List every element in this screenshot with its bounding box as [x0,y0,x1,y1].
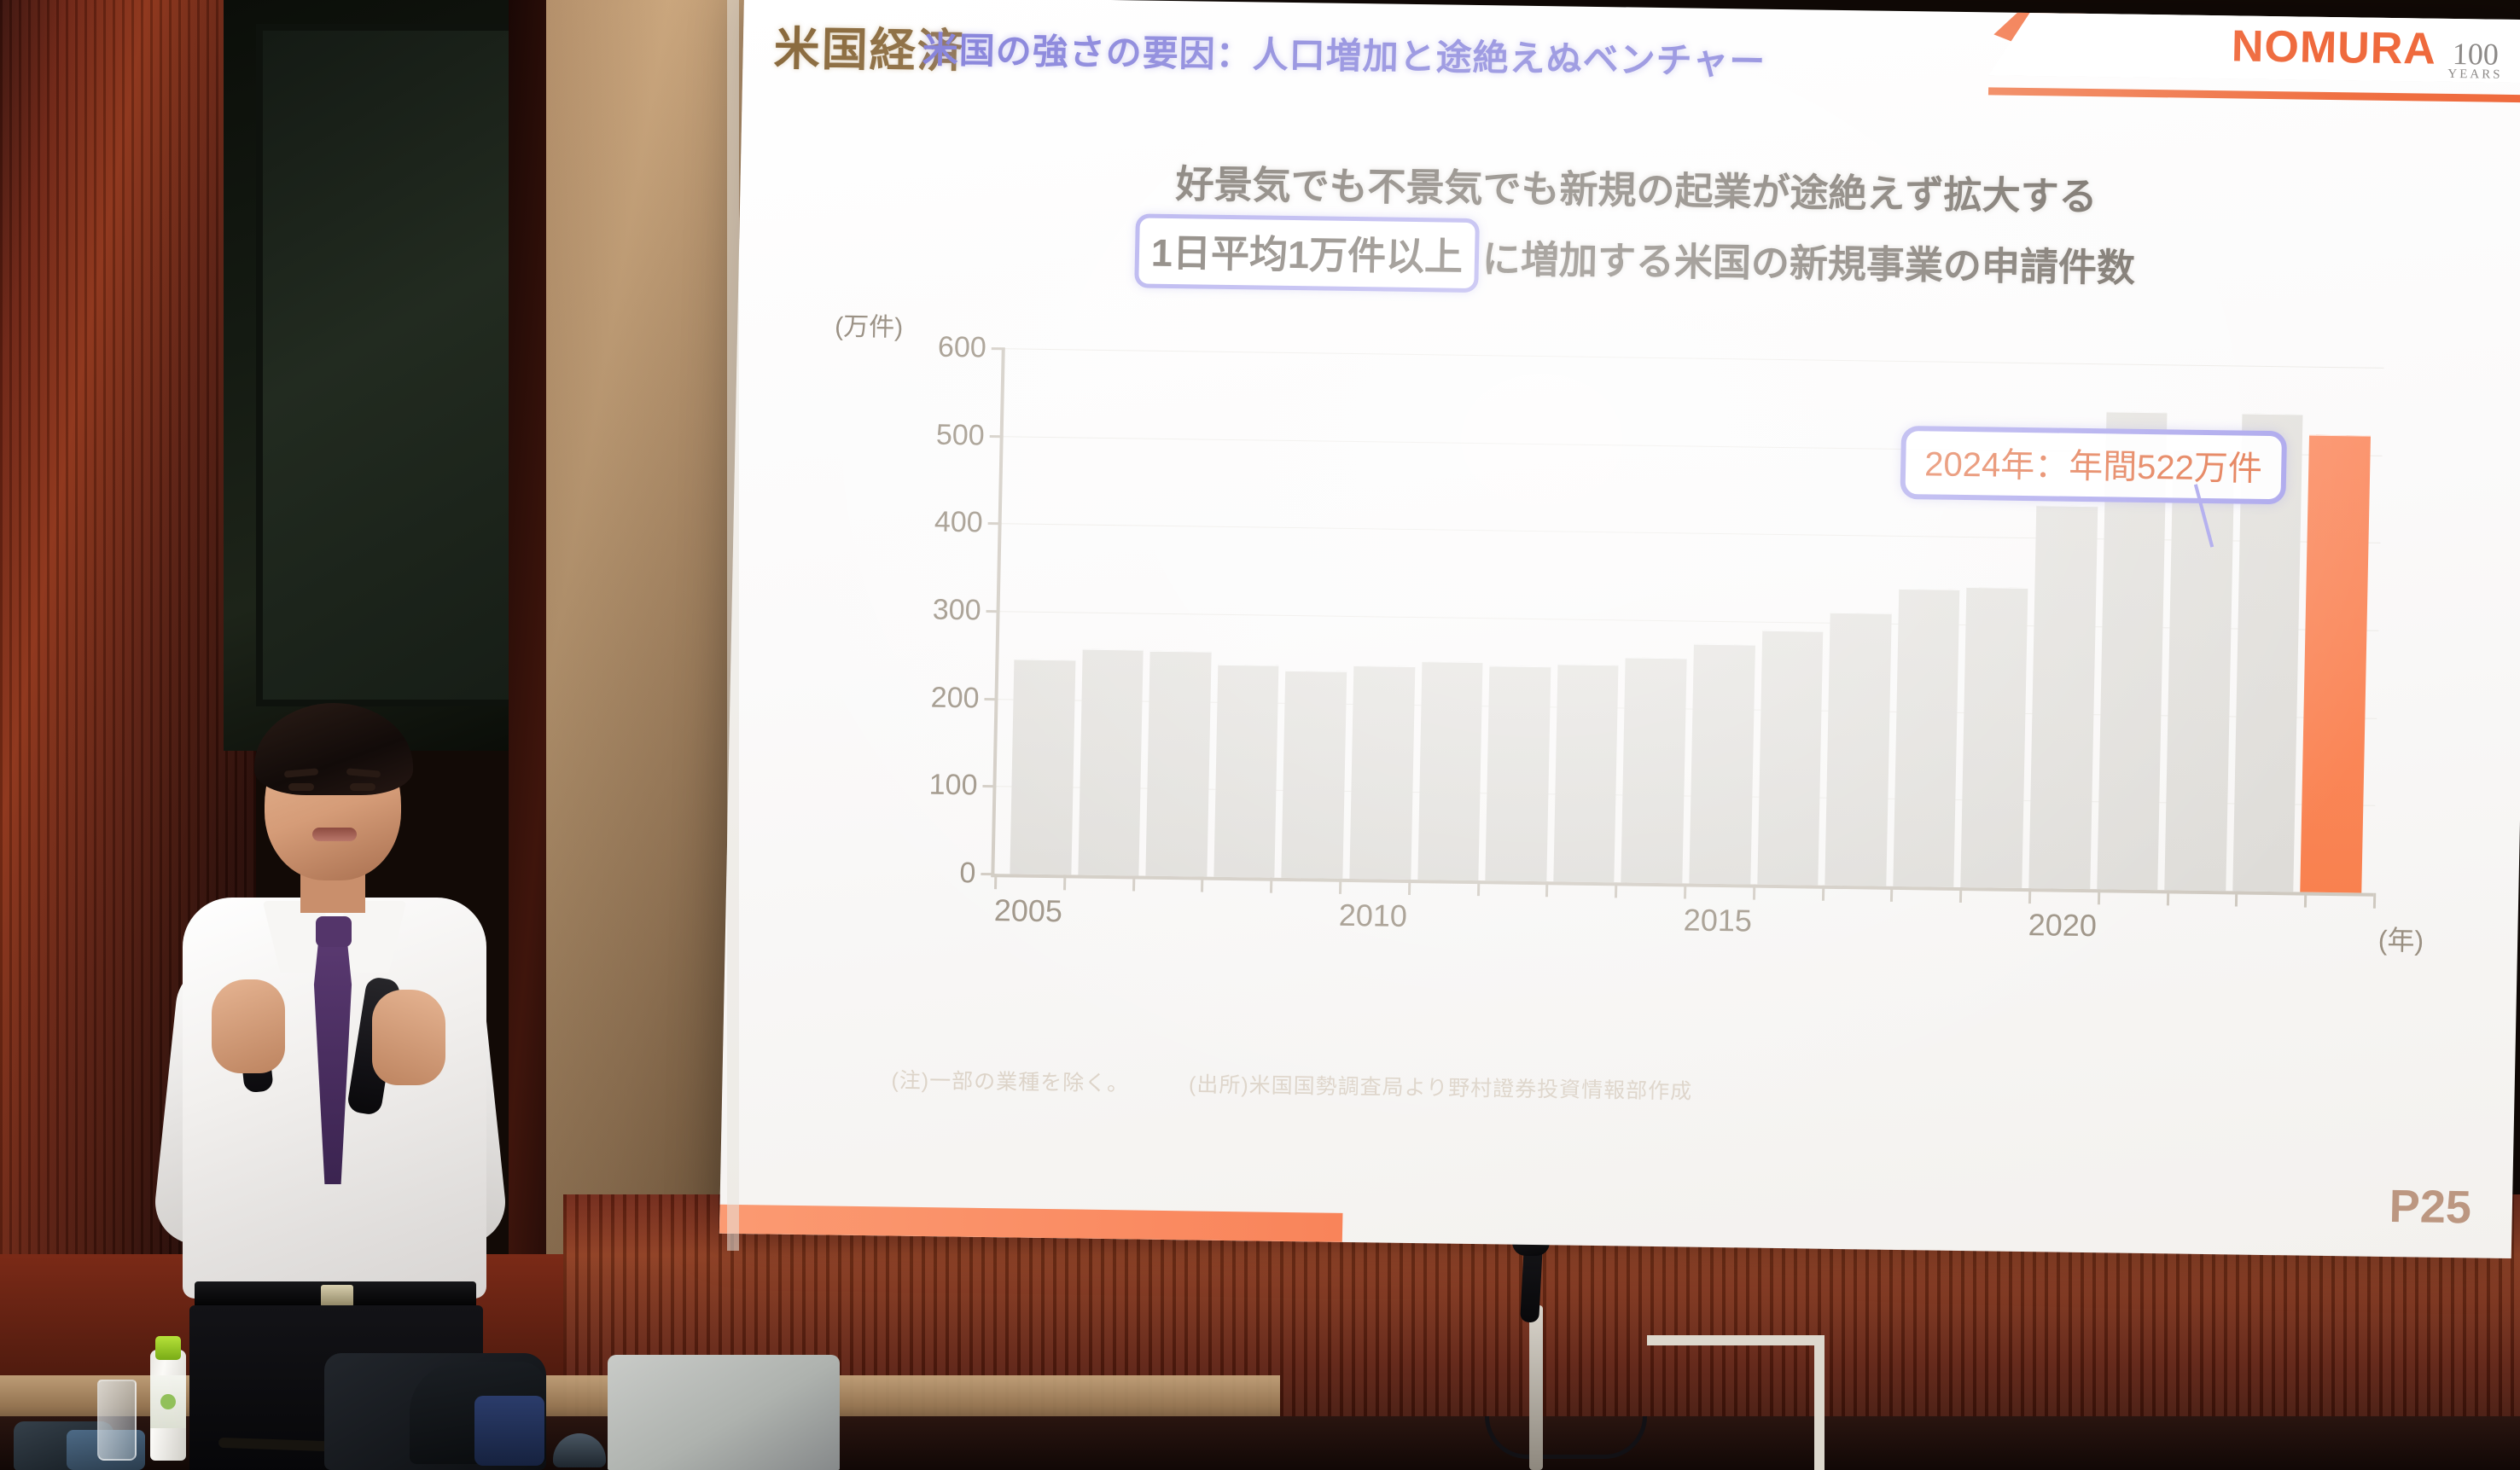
bar-2012 [1485,666,1551,881]
x-axis-tick [1545,881,1548,897]
y-axis-tick-mark [990,435,1004,438]
bag-blue-panel [474,1396,544,1466]
y-axis-tick-mark [988,522,1002,525]
anniversary-unit: YEARS [2447,68,2502,81]
x-axis-label-2005: 2005 [993,892,1062,929]
y-axis-tick-label: 300 [932,594,981,628]
bar-2020 [2028,506,2098,890]
nomura-logo: NOMURA 100 YEARS [2231,20,2503,81]
water-bottle-label [150,1375,186,1428]
footnote: (注)一部の業種を除く。 (出所)米国国勢調査局より野村證券投資情報部作成 [891,1064,1692,1106]
y-axis-tick-mark [981,873,994,875]
x-axis-label-2020: 2020 [2028,907,2097,944]
x-axis-tick [1615,882,1617,898]
x-axis-tick [1339,879,1341,894]
bar-2017 [1825,613,1891,886]
x-axis-tick [1684,883,1686,898]
bar-chart: (万件) 0100200300400500600 200520102015202… [818,320,2436,1050]
eye-left [288,783,314,791]
bar-2010 [1349,665,1415,880]
x-axis-tick [1408,880,1411,895]
x-axis-tick [994,874,997,889]
x-axis-unit-label: (年) [2377,919,2424,959]
x-axis-label-2010: 2010 [1338,898,1407,934]
mouth [312,828,357,841]
y-axis-tick-label: 200 [930,681,980,715]
presenter-right-hand [372,990,445,1085]
presenter-left-hand [212,979,285,1073]
nomura-wordmark: NOMURA [2231,20,2436,74]
bar-2007 [1146,651,1212,877]
y-axis-tick-mark [986,610,1000,613]
y-axis-tick-label: 0 [959,857,976,890]
x-axis-tick [2028,888,2031,903]
x-axis-tick [2304,892,2307,908]
y-axis-tick-mark [982,785,996,787]
slide-subtitle: 米国の強さの要因：人口増加と途絶えぬベンチャー [922,21,1766,85]
lead-line-2-rest: に増加する米国の新規事業の申請件数 [1481,228,2135,293]
water-bottle-cap [155,1336,181,1360]
bar-2008 [1213,664,1279,877]
belt-buckle [321,1285,353,1307]
y-axis-tick-label: 600 [938,331,987,365]
presenter [145,708,512,1357]
anniversary-mark: 100 YEARS [2447,39,2503,81]
bar-2011 [1417,662,1483,881]
anniversary-number: 100 [2453,39,2500,69]
x-axis-tick [1201,877,1203,892]
chalkboard [256,24,546,706]
bar-2015 [1689,643,1755,884]
x-axis-tick [1753,885,1755,900]
x-axis-tick [1890,886,1893,902]
x-axis-tick [2167,890,2169,905]
x-axis-tick [1063,874,1066,890]
x-axis-tick [2098,889,2100,904]
y-axis-tick-label: 500 [936,418,986,452]
annotation-callout: 2024年：年間522万件 [1900,426,2286,504]
y-axis-tick-mark [992,347,1005,350]
bar-2019 [1961,587,2028,888]
eye-right [350,783,375,791]
microphone-cable [1485,1416,1647,1459]
bar-2016 [1757,630,1824,886]
lead-highlight-box: 1日平均1万件以上 [1134,213,1480,293]
bar-2009 [1282,671,1347,879]
projected-slide: 米国経済 米国の強さの要因：人口増加と途絶えぬベンチャー NOMURA 100 … [719,0,2520,1258]
necktie-knot [316,916,352,947]
microphone-stand [1529,1305,1543,1470]
slide-header: 米国経済 米国の強さの要因：人口増加と途絶えぬベンチャー NOMURA 100 … [742,0,2520,102]
x-axis-tick [2235,891,2238,906]
bar-2013 [1553,665,1619,883]
bar-2022 [2164,450,2234,891]
footnote-note: (注)一部の業種を除く。 [891,1069,1129,1096]
x-axis-tick [1270,878,1272,893]
drinking-glass [97,1380,137,1461]
page-number: P25 [2389,1180,2471,1234]
bar-2005 [1010,659,1075,874]
x-axis-tick [1477,880,1480,896]
presenter-hair [254,703,413,795]
bar-2024 [2301,435,2371,893]
y-axis-unit-label: (万件) [835,305,904,344]
x-axis-label-2015: 2015 [1683,902,1752,938]
footnote-source: (出所)米国国勢調査局より野村證券投資情報部作成 [1189,1072,1693,1103]
x-axis-tick [1822,886,1825,901]
bar-2014 [1621,658,1687,884]
y-axis-tick-mark [984,698,998,700]
seminar-room-photo: hp 米国経済 米国の強さの要因：人口増加と途絶えぬベンチャー NOMURA 1… [0,0,2520,1470]
y-axis-tick-label: 400 [934,506,984,540]
bar-2006 [1078,649,1144,876]
x-axis-tick [1132,875,1135,891]
bar-2018 [1893,589,1960,887]
x-axis-tick [1959,887,1962,903]
laptop: hp [608,1355,840,1470]
y-axis-tick-label: 100 [928,769,978,803]
header-underline [1988,87,2520,102]
x-axis-tick [2373,893,2376,909]
